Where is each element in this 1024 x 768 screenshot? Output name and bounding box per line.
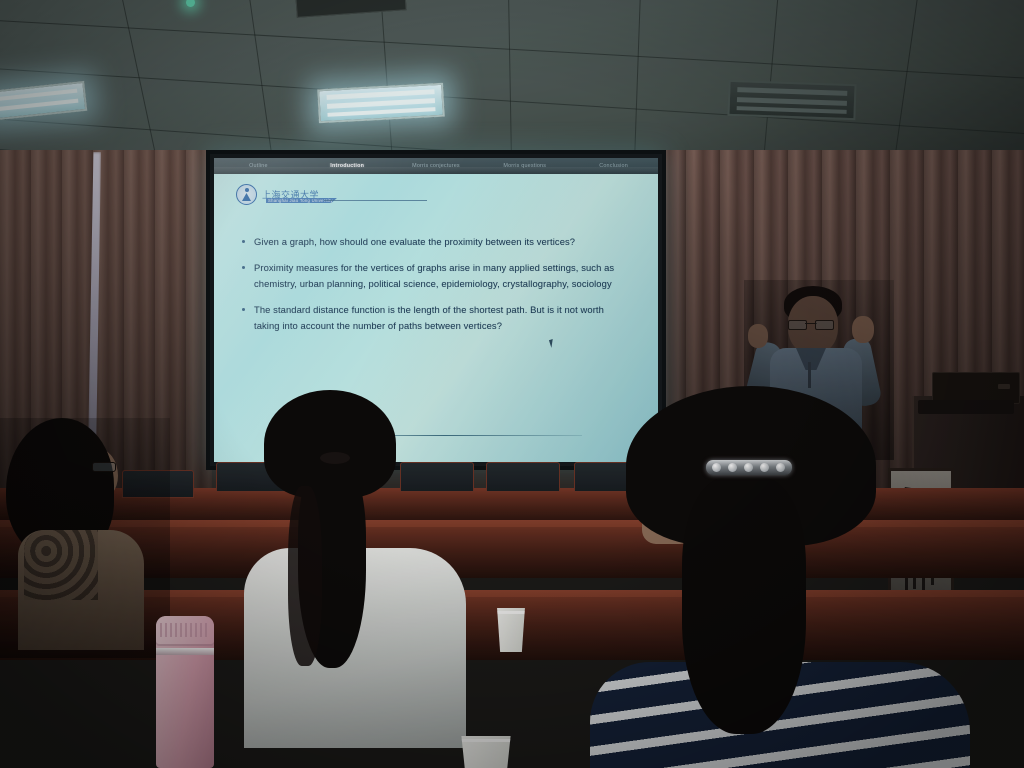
bullet-item: Proximity measures for the vertices of g… xyxy=(240,260,632,291)
nav-item-introduction[interactable]: Introduction xyxy=(303,163,392,169)
slide-navigation-bar: Outline Introduction Morris conjectures … xyxy=(214,158,658,174)
thermos-cap xyxy=(156,616,214,646)
nav-item-morris-questions[interactable]: Morris questions xyxy=(480,163,569,169)
nav-item-outline[interactable]: Outline xyxy=(214,163,303,169)
attendee-ponytail-strand xyxy=(288,486,322,666)
attendee-left xyxy=(0,418,170,658)
seat-back xyxy=(486,462,560,492)
bullet-item: Given a graph, how should one evaluate t… xyxy=(240,234,632,249)
indicator-led xyxy=(186,0,195,7)
nav-item-conclusion[interactable]: Conclusion xyxy=(569,163,658,169)
nav-item-morris-conjectures[interactable]: Morris conjectures xyxy=(392,163,481,169)
ceiling-light-lit xyxy=(0,81,87,121)
glasses-icon xyxy=(788,320,834,328)
attendee-ponytail xyxy=(682,478,806,734)
attendee-garment-pattern xyxy=(24,530,98,600)
glasses-icon xyxy=(92,462,116,472)
slide-bullet-list: Given a graph, how should one evaluate t… xyxy=(240,234,632,344)
ceiling-light-lit xyxy=(317,83,445,124)
hair-tie xyxy=(320,452,350,464)
hair-barrette xyxy=(706,460,792,475)
ceiling-vent xyxy=(295,0,406,18)
attendee-center xyxy=(236,390,476,768)
ceiling-light-unlit xyxy=(727,80,856,120)
presenter-left-hand xyxy=(748,324,768,348)
presenter-right-hand xyxy=(852,316,874,343)
thermos-flask[interactable] xyxy=(156,616,214,768)
attendee-right xyxy=(626,386,1010,768)
lecture-hall-photo: Outline Introduction Morris conjectures … xyxy=(0,0,1024,768)
ceiling xyxy=(0,0,1024,152)
logo-divider xyxy=(324,200,427,201)
presenter-placket xyxy=(808,362,811,388)
university-seal-icon xyxy=(236,184,257,205)
bullet-item: The standard distance function is the le… xyxy=(240,302,632,333)
paper-cup[interactable] xyxy=(456,736,516,768)
thermos-ring xyxy=(156,648,214,655)
